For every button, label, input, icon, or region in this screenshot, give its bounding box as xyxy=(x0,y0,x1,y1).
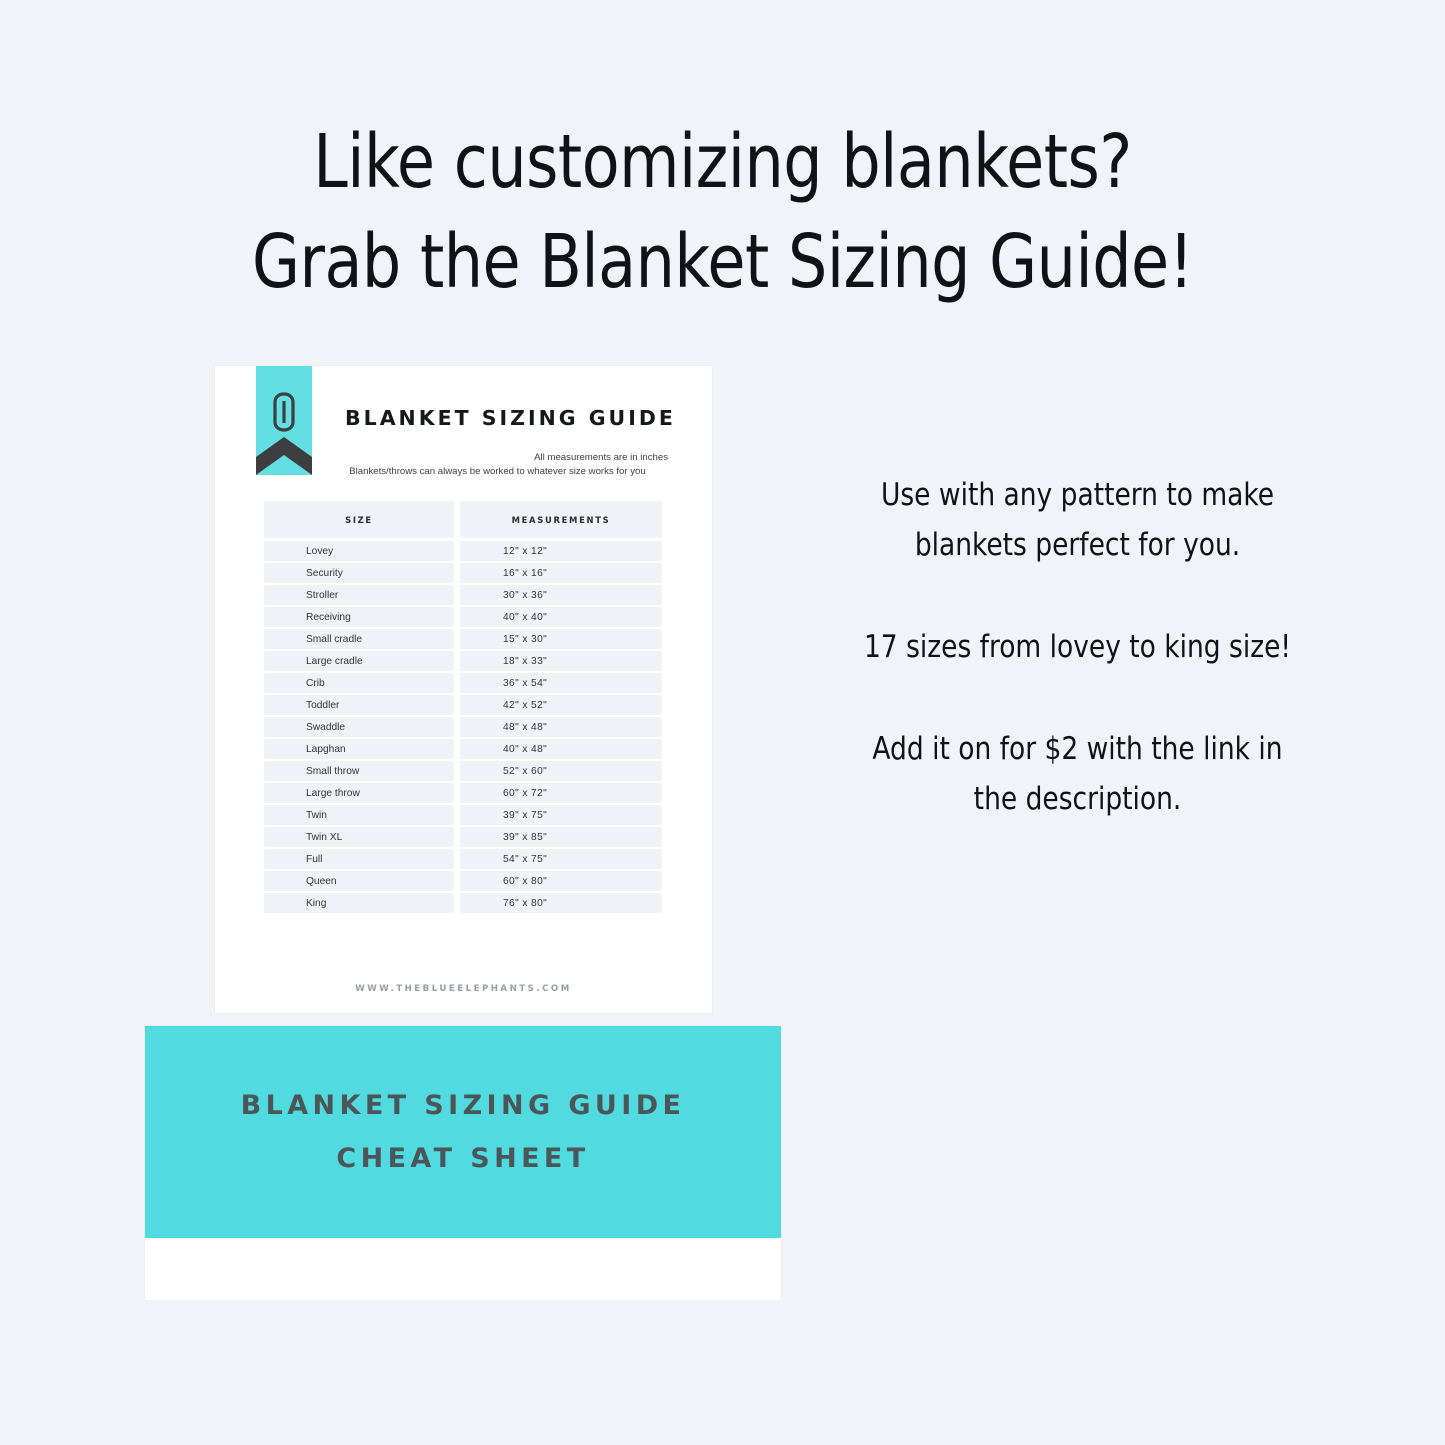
table-row: Large cradle18" x 33" xyxy=(264,651,662,673)
cell-size: Twin xyxy=(264,805,460,827)
copy-paragraph-1-line-2: blankets perfect for you. xyxy=(785,520,1369,570)
cheat-sheet-banner-line-2: CHEAT SHEET xyxy=(241,1132,686,1185)
table-body: Lovey12" x 12" Security16" x 16" Strolle… xyxy=(264,541,662,915)
column-header-size: SIZE xyxy=(264,501,460,541)
headline-line-2: Grab the Blanket Sizing Guide! xyxy=(51,212,1395,312)
page-title: Like customizing blankets? Grab the Blan… xyxy=(51,112,1395,312)
cell-measurements: 36" x 54" xyxy=(460,673,662,695)
cell-measurements: 60" x 72" xyxy=(460,783,662,805)
cell-size: Queen xyxy=(264,871,460,893)
table-row: Twin39" x 75" xyxy=(264,805,662,827)
ribbon-bookmark xyxy=(256,366,312,475)
table-row: Small cradle15" x 30" xyxy=(264,629,662,651)
copy-paragraph-2: 17 sizes from lovey to king size! xyxy=(785,622,1369,672)
sheet-title: BLANKET SIZING GUIDE xyxy=(345,406,675,430)
cheat-sheet-banner-line-1: BLANKET SIZING GUIDE xyxy=(241,1079,686,1132)
cheat-sheet-banner-text: BLANKET SIZING GUIDE CHEAT SHEET xyxy=(241,1079,686,1185)
cell-size: Lovey xyxy=(264,541,460,563)
cell-measurements: 76" x 80" xyxy=(460,893,662,915)
cell-measurements: 40" x 48" xyxy=(460,739,662,761)
cell-measurements: 15" x 30" xyxy=(460,629,662,651)
table-row: Security16" x 16" xyxy=(264,563,662,585)
table-row: Twin XL39" x 85" xyxy=(264,827,662,849)
cell-measurements: 12" x 12" xyxy=(460,541,662,563)
table-row: Lovey12" x 12" xyxy=(264,541,662,563)
cell-measurements: 30" x 36" xyxy=(460,585,662,607)
cell-size: Lapghan xyxy=(264,739,460,761)
headline-line-1: Like customizing blankets? xyxy=(51,112,1395,212)
subtitle-line-1: All measurements are in inches xyxy=(325,451,670,465)
table-row: Swaddle48" x 48" xyxy=(264,717,662,739)
cell-size: King xyxy=(264,893,460,915)
cell-measurements: 54" x 75" xyxy=(460,849,662,871)
table-row: Receiving40" x 40" xyxy=(264,607,662,629)
cell-size: Receiving xyxy=(264,607,460,629)
cell-measurements: 16" x 16" xyxy=(460,563,662,585)
cell-measurements: 60" x 80" xyxy=(460,871,662,893)
copy-paragraph-3-line-1: Add it on for $2 with the link in xyxy=(785,724,1369,774)
cell-size: Small cradle xyxy=(264,629,460,651)
cell-measurements: 48" x 48" xyxy=(460,717,662,739)
sizing-guide-sheet-preview: BLANKET SIZING GUIDE All measurements ar… xyxy=(215,366,712,1013)
table-row: Toddler42" x 52" xyxy=(264,695,662,717)
cell-size: Swaddle xyxy=(264,717,460,739)
cell-size: Stroller xyxy=(264,585,460,607)
marketing-copy: Use with any pattern to make blankets pe… xyxy=(785,470,1369,824)
table-header-row: SIZE MEASUREMENTS xyxy=(264,501,662,541)
cell-measurements: 18" x 33" xyxy=(460,651,662,673)
column-header-measurements: MEASUREMENTS xyxy=(460,501,662,541)
table-row: Large throw60" x 72" xyxy=(264,783,662,805)
blanket-sizing-table: SIZE MEASUREMENTS Lovey12" x 12" Securit… xyxy=(264,501,662,915)
cell-measurements: 52" x 60" xyxy=(460,761,662,783)
cell-size: Crib xyxy=(264,673,460,695)
cell-measurements: 40" x 40" xyxy=(460,607,662,629)
sheet-subtitle: All measurements are in inches Blankets/… xyxy=(325,451,670,479)
cheat-sheet-banner: BLANKET SIZING GUIDE CHEAT SHEET xyxy=(145,1026,781,1238)
cell-size: Toddler xyxy=(264,695,460,717)
cell-measurements: 39" x 75" xyxy=(460,805,662,827)
table-row: Full54" x 75" xyxy=(264,849,662,871)
cell-measurements: 39" x 85" xyxy=(460,827,662,849)
cell-size: Small throw xyxy=(264,761,460,783)
table-row: Lapghan40" x 48" xyxy=(264,739,662,761)
subtitle-line-2: Blankets/throws can always be worked to … xyxy=(325,465,670,479)
cell-measurements: 42" x 52" xyxy=(460,695,662,717)
copy-spacer xyxy=(785,672,1369,724)
table-row: Stroller30" x 36" xyxy=(264,585,662,607)
paperclip-icon xyxy=(271,392,297,432)
table-row: Small throw52" x 60" xyxy=(264,761,662,783)
cell-size: Large cradle xyxy=(264,651,460,673)
copy-paragraph-1-line-1: Use with any pattern to make xyxy=(785,470,1369,520)
table-row: Queen60" x 80" xyxy=(264,871,662,893)
promo-graphic: Like customizing blankets? Grab the Blan… xyxy=(0,0,1445,1445)
table-row: Crib36" x 54" xyxy=(264,673,662,695)
cell-size: Security xyxy=(264,563,460,585)
copy-paragraph-3-line-2: the description. xyxy=(785,774,1369,824)
table-row: King76" x 80" xyxy=(264,893,662,915)
cell-size: Large throw xyxy=(264,783,460,805)
cell-size: Full xyxy=(264,849,460,871)
copy-spacer xyxy=(785,570,1369,622)
cheat-sheet-card: BLANKET SIZING GUIDE CHEAT SHEET xyxy=(145,1026,781,1300)
sheet-footer-url: WWW.THEBLUEELEPHANTS.COM xyxy=(215,984,712,994)
cell-size: Twin XL xyxy=(264,827,460,849)
